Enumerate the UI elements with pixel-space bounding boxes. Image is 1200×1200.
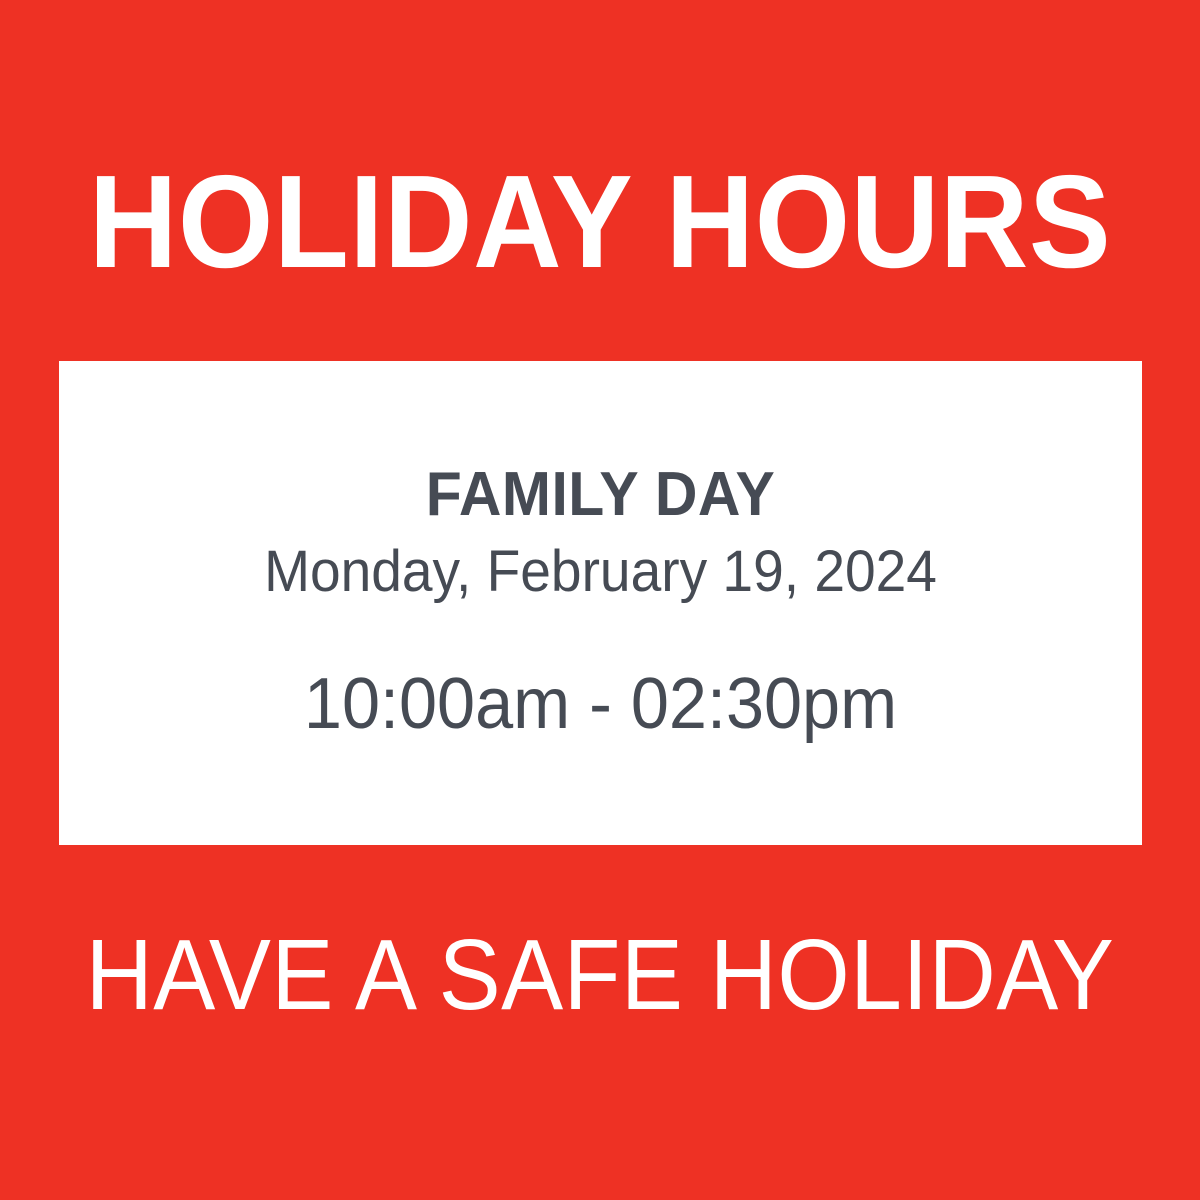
holiday-name: FAMILY DAY (124, 462, 1077, 529)
holiday-details-stack: FAMILY DAY Monday, February 19, 2024 10:… (99, 462, 1102, 745)
holiday-hours-poster: HOLIDAY HOURS FAMILY DAY Monday, Februar… (0, 0, 1200, 1200)
page-title: HOLIDAY HOURS (42, 152, 1158, 292)
closing-message: HAVE A SAFE HOLIDAY (42, 920, 1158, 1030)
holiday-date: Monday, February 19, 2024 (124, 537, 1077, 608)
holiday-hours-range: 10:00am - 02:30pm (124, 665, 1077, 744)
holiday-details-card: FAMILY DAY Monday, February 19, 2024 10:… (59, 361, 1142, 845)
